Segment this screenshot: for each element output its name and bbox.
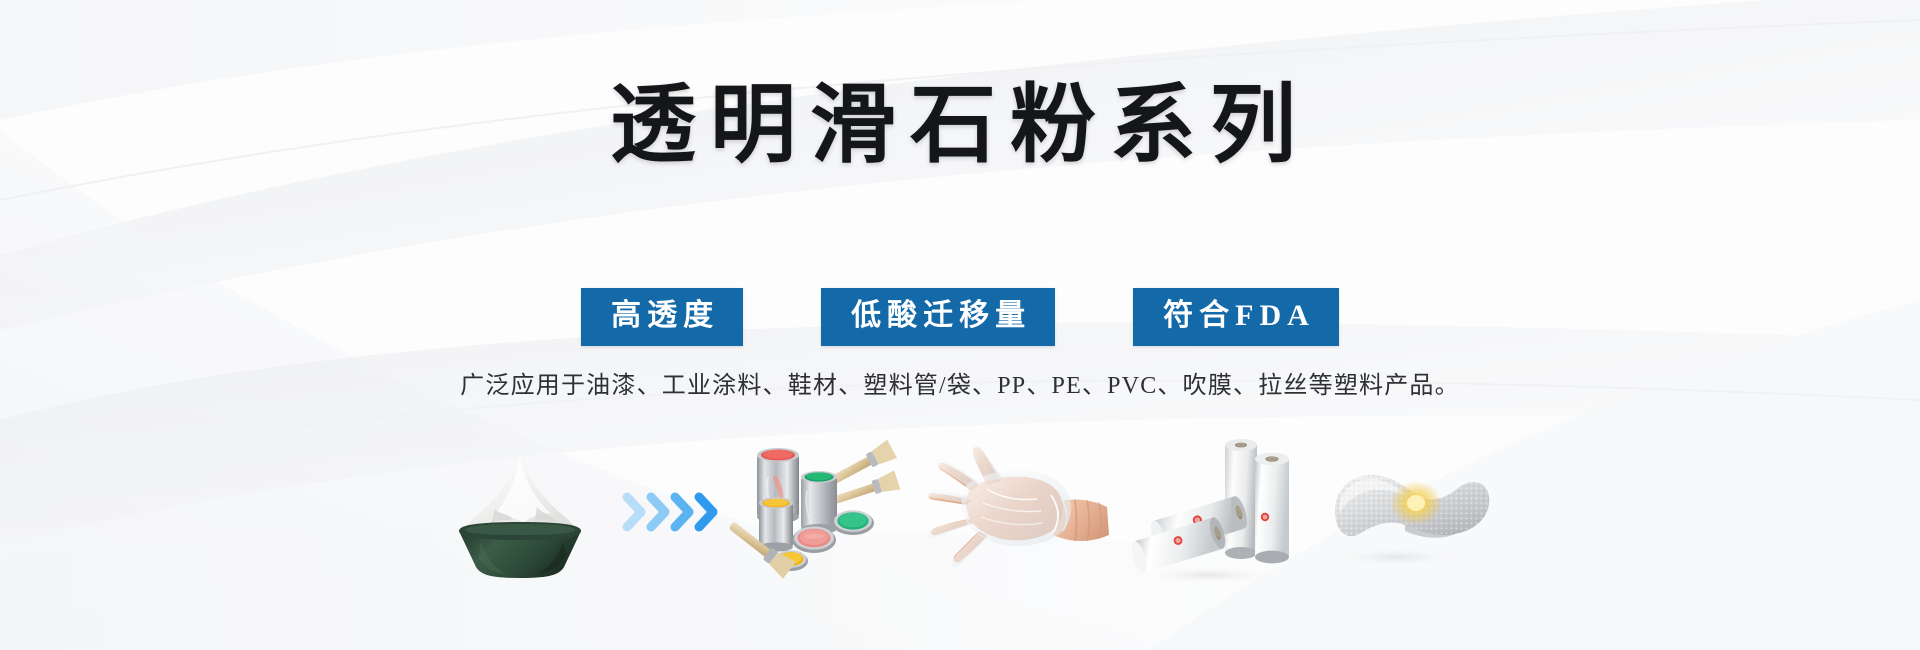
application-image-strip: [0, 432, 1920, 592]
feature-badge-high-transparency[interactable]: 高透度: [581, 288, 743, 346]
plastic-film-rolls-image: [1115, 437, 1305, 587]
paint-cans-image: [735, 437, 925, 587]
plastic-glove-hand-image: [925, 437, 1115, 587]
feature-badge-list: 高透度 低酸迁移量 符合FDA: [0, 288, 1920, 346]
product-banner: 透明滑石粉系列 高透度 低酸迁移量 符合FDA 广泛应用于油漆、工业涂料、鞋材、…: [0, 0, 1920, 650]
feature-badge-fda-compliant[interactable]: 符合FDA: [1133, 288, 1339, 346]
shoe-sole-image: [1305, 437, 1495, 587]
banner-description: 广泛应用于油漆、工业涂料、鞋材、塑料管/袋、PP、PE、PVC、吹膜、拉丝等塑料…: [0, 372, 1920, 401]
banner-title: 透明滑石粉系列: [0, 82, 1920, 168]
talc-powder-bowl-image: [425, 437, 615, 587]
feature-badge-low-acid-migration[interactable]: 低酸迁移量: [821, 288, 1055, 346]
process-arrows-icon: [615, 437, 735, 587]
